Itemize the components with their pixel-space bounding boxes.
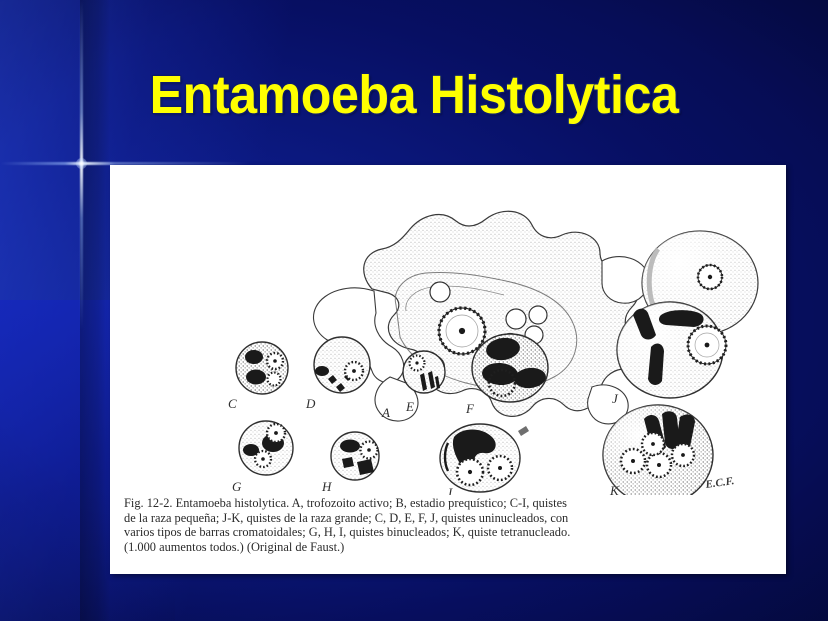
specimen-label-g: G — [232, 479, 242, 494]
specimen-a-trophozoite: A — [313, 211, 648, 424]
specimen-h-cyst: H — [321, 432, 379, 494]
figure-panel: A B — [110, 165, 786, 574]
specimen-label-k: K — [609, 483, 620, 495]
specimen-label-f: F — [465, 401, 475, 416]
slide: Entamoeba Histolytica — [0, 0, 828, 621]
specimen-a-nucleus — [439, 308, 485, 354]
specimen-label-i: I — [447, 485, 453, 495]
caption-line-3: varios tipos de barras cromatoidales; G,… — [124, 525, 772, 540]
specimen-label-d: D — [305, 396, 316, 411]
artist-signature: E.C.F. — [704, 475, 735, 491]
specimen-k-cyst: K — [603, 405, 713, 495]
slide-title: Entamoeba Histolytica — [29, 64, 799, 126]
specimen-e-cyst: E — [403, 351, 445, 414]
specimen-b-nucleus — [698, 265, 722, 289]
specimen-c-cyst: C — [228, 342, 288, 411]
specimen-label-e: E — [405, 399, 414, 414]
caption-line-2: de la raza pequeña; J-K, quistes de la r… — [124, 511, 772, 526]
specimen-g-cyst: G — [232, 421, 293, 494]
specimen-label-c: C — [228, 396, 237, 411]
specimen-i-cyst: I — [440, 424, 529, 495]
specimen-j-cyst: J — [612, 302, 726, 406]
figure-caption: Fig. 12-2. Entamoeba histolytica. A, tro… — [124, 496, 772, 554]
specimen-label-h: H — [321, 479, 332, 494]
caption-line-4: (1.000 aumentos todos.) (Original de Fau… — [124, 540, 772, 555]
specimen-d-cyst: D — [305, 337, 370, 411]
figure-illustration: A B — [110, 165, 786, 495]
sparkle-core — [76, 158, 87, 169]
specimen-label-a: A — [381, 405, 390, 420]
caption-line-1: Fig. 12-2. Entamoeba histolytica. A, tro… — [124, 496, 772, 511]
